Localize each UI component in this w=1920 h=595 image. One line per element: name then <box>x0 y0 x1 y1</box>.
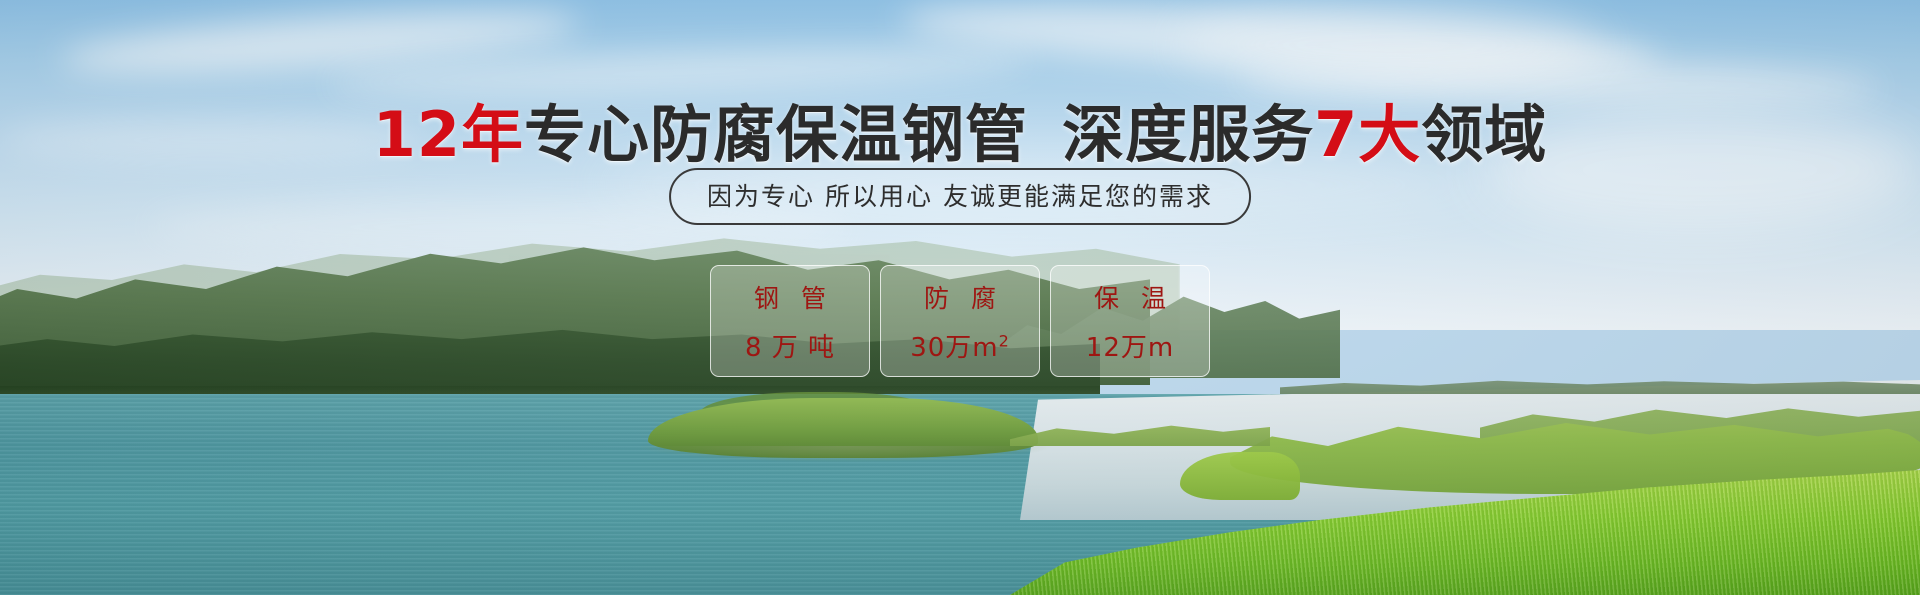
stat-card-value: 8 万 吨 <box>745 327 835 364</box>
stat-card-group: 钢 管 8 万 吨 防 腐 30万m2 保 温 12万m <box>710 265 1210 377</box>
headline-fields-text: 领域 <box>1421 98 1547 171</box>
headline-years-unit: 年 <box>461 98 524 171</box>
stat-card-label: 保 温 <box>1087 279 1173 315</box>
stat-card-value-text: 30万m <box>910 333 998 363</box>
headline-main-text: 专心防腐保温钢管 <box>524 98 1028 171</box>
headline-service-text: 深度服务 <box>1062 98 1314 171</box>
subtitle-pill: 因为专心 所以用心 友诚更能满足您的需求 <box>669 168 1251 225</box>
stat-card-value-text: 12万m <box>1086 333 1174 363</box>
stat-card-value: 30万m2 <box>910 327 1010 364</box>
headline-fields-unit: 大 <box>1358 98 1421 171</box>
stat-card-label: 防 腐 <box>917 279 1003 315</box>
stat-card-insulation: 保 温 12万m <box>1050 265 1210 377</box>
headline-years-number: 12 <box>373 98 461 171</box>
headline-fields-number: 7 <box>1314 98 1358 171</box>
banner-content: 12年专心防腐保温钢管深度服务7大领域 因为专心 所以用心 友诚更能满足您的需求… <box>0 0 1920 595</box>
stat-card-steel-pipe: 钢 管 8 万 吨 <box>710 265 870 377</box>
stat-card-label: 钢 管 <box>747 279 833 315</box>
stat-card-value: 12万m <box>1086 327 1174 364</box>
promo-banner: 12年专心防腐保温钢管深度服务7大领域 因为专心 所以用心 友诚更能满足您的需求… <box>0 0 1920 595</box>
stat-card-value-text: 8 万 吨 <box>745 333 835 363</box>
stat-card-anticorrosion: 防 腐 30万m2 <box>880 265 1040 377</box>
stat-card-value-superscript: 2 <box>999 331 1010 350</box>
headline: 12年专心防腐保温钢管深度服务7大领域 <box>0 84 1920 174</box>
